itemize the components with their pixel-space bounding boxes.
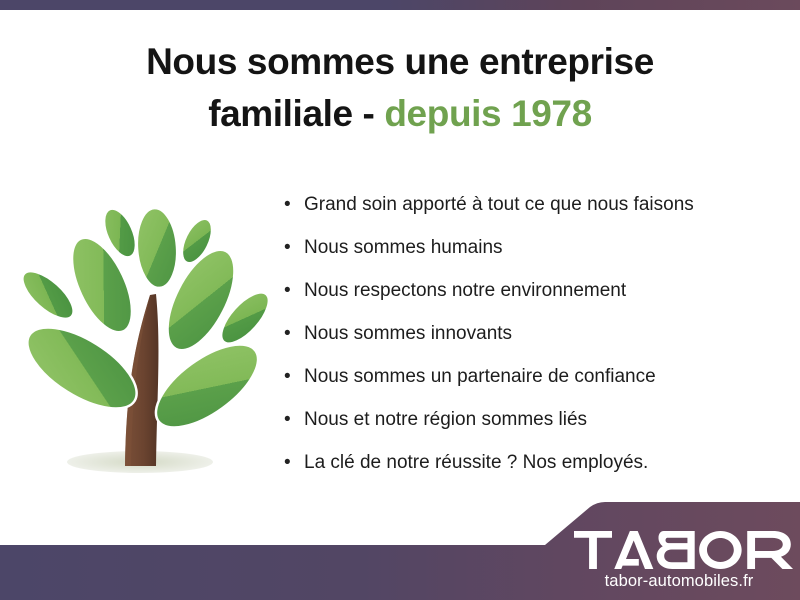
tree-illustration bbox=[14, 190, 276, 482]
list-item: • Grand soin apporté à tout ce que nous … bbox=[284, 192, 784, 235]
bullet-icon: • bbox=[284, 450, 304, 476]
list-item-label: Grand soin apporté à tout ce que nous fa… bbox=[304, 192, 694, 218]
value-bullet-list: • Grand soin apporté à tout ce que nous … bbox=[284, 192, 784, 493]
list-item: • La clé de notre réussite ? Nos employé… bbox=[284, 450, 784, 493]
bullet-icon: • bbox=[284, 321, 304, 347]
brand-logo[interactable]: tabor-automobiles.fr bbox=[574, 531, 784, 592]
list-item-label: Nous et notre région sommes liés bbox=[304, 407, 587, 433]
title-line-1: Nous sommes une entreprise bbox=[0, 36, 800, 88]
top-accent-bar bbox=[0, 0, 800, 10]
bullet-icon: • bbox=[284, 278, 304, 304]
leaf-top-center bbox=[134, 207, 179, 290]
list-item-label: Nous sommes humains bbox=[304, 235, 503, 261]
list-item: • Nous respectons notre environnement bbox=[284, 278, 784, 321]
list-item: • Nous sommes un partenaire de confiance bbox=[284, 364, 784, 407]
list-item-label: Nous sommes un partenaire de confiance bbox=[304, 364, 656, 390]
leaf-lower-right bbox=[143, 329, 272, 443]
title-accent-since-year: depuis 1978 bbox=[384, 93, 591, 134]
title-line-2: familiale - depuis 1978 bbox=[0, 88, 800, 140]
leaf-mid-far-left bbox=[15, 263, 81, 327]
tabor-wordmark bbox=[574, 531, 798, 569]
bullet-icon: • bbox=[284, 235, 304, 261]
title-line-2-plain: familiale - bbox=[208, 93, 384, 134]
brand-website-url[interactable]: tabor-automobiles.fr bbox=[574, 570, 784, 592]
list-item-label: Nous sommes innovants bbox=[304, 321, 512, 347]
bullet-icon: • bbox=[284, 407, 304, 433]
list-item: • Nous et notre région sommes liés bbox=[284, 407, 784, 450]
slide-title: Nous sommes une entreprise familiale - d… bbox=[0, 36, 800, 140]
list-item: • Nous sommes humains bbox=[284, 235, 784, 278]
bullet-icon: • bbox=[284, 192, 304, 218]
list-item: • Nous sommes innovants bbox=[284, 321, 784, 364]
list-item-label: Nous respectons notre environnement bbox=[304, 278, 626, 304]
slide-canvas: Nous sommes une entreprise familiale - d… bbox=[0, 0, 800, 600]
list-item-label: La clé de notre réussite ? Nos employés. bbox=[304, 450, 648, 476]
bullet-icon: • bbox=[284, 364, 304, 390]
